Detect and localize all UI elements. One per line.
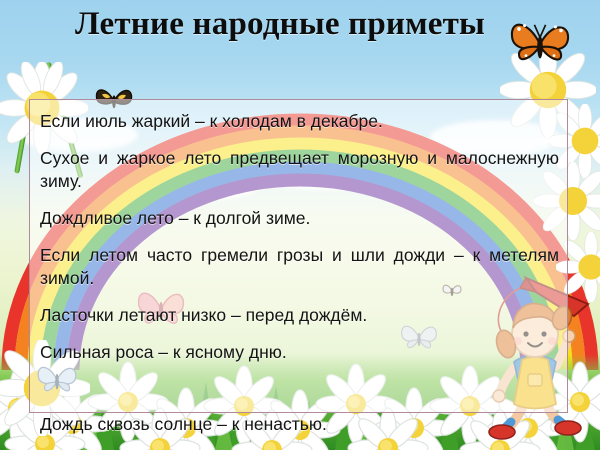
list-item: Ласточки летают низко – перед дождём. <box>40 304 559 327</box>
list-item: Дождливое лето – к долгой зиме. <box>40 207 559 230</box>
list-item: Сухое и жаркое лето предвещает морозную … <box>40 147 559 193</box>
slide-canvas: Летние народные приметы Если июль жаркий… <box>0 0 600 450</box>
list-item: Дождь сквозь солнце – к ненастью. <box>40 413 560 436</box>
omens-list: Если июль жаркий – к холодам в декабре. … <box>29 99 568 364</box>
page-title: Летние народные приметы <box>0 4 600 44</box>
list-item: Если летом часто гремели грозы и шли дож… <box>40 244 559 290</box>
list-item: Сильная роса – к ясному дню. <box>40 341 559 364</box>
list-item: Если июль жаркий – к холодам в декабре. <box>40 110 559 133</box>
